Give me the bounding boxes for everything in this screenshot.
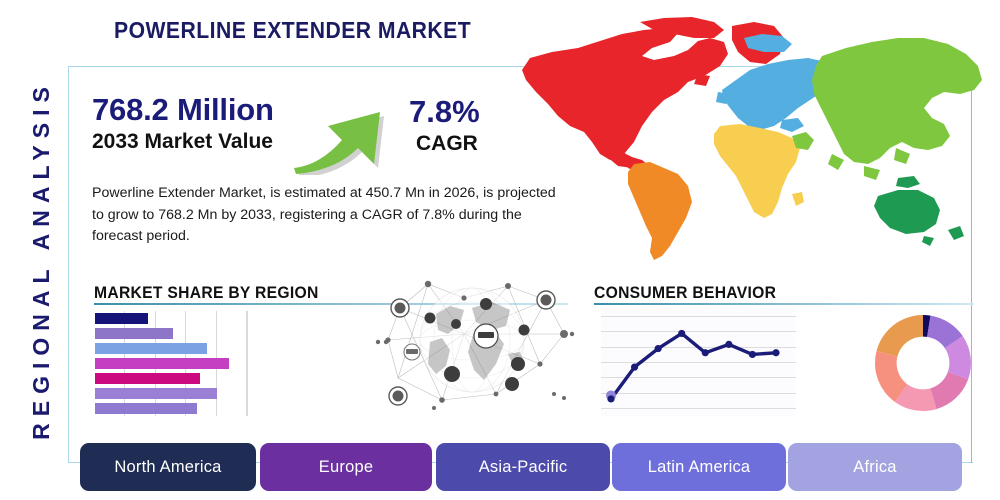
consumer-behavior-heading: CONSUMER BEHAVIOR bbox=[594, 284, 776, 303]
region-pill-europe[interactable]: Europe bbox=[260, 443, 432, 491]
market-share-heading: MARKET SHARE BY REGION bbox=[94, 284, 319, 303]
growth-arrow-svg bbox=[288, 90, 408, 175]
donut-segment bbox=[877, 315, 923, 356]
line-marker bbox=[655, 345, 662, 352]
cagr-caption: CAGR bbox=[416, 132, 478, 156]
line-marker bbox=[702, 349, 709, 356]
donut-segment bbox=[930, 372, 968, 409]
cagr-number: 7.8% bbox=[409, 94, 480, 130]
global-network-graphic bbox=[368, 268, 578, 420]
bar-item bbox=[95, 358, 229, 369]
region-pill-asia-pacific[interactable]: Asia-Pacific bbox=[436, 443, 610, 491]
map-region-oceania bbox=[874, 176, 964, 246]
hero-metrics: 768.2 Million 2033 Market Value 7.8% CAG… bbox=[92, 92, 572, 172]
bar-item bbox=[95, 313, 148, 324]
bar-item bbox=[95, 403, 197, 414]
bar-item bbox=[95, 343, 207, 354]
map-region-africa bbox=[714, 124, 804, 218]
page-title: POWERLINE EXTENDER MARKET bbox=[114, 17, 471, 44]
consumer-behavior-line-chart bbox=[601, 308, 796, 416]
region-pill-africa[interactable]: Africa bbox=[788, 443, 962, 491]
map-region-south-america bbox=[628, 162, 692, 260]
region-pill-row: North AmericaEuropeAsia-PacificLatin Ame… bbox=[80, 443, 980, 491]
region-pill-north-america[interactable]: North America bbox=[80, 443, 256, 491]
line-marker bbox=[749, 351, 756, 358]
map-region-asia bbox=[792, 38, 982, 180]
infographic-root: REGIONAL ANALYSIS POWERLINE EXTENDER MAR… bbox=[0, 0, 1000, 500]
bar-gridline bbox=[246, 311, 247, 416]
line-marker bbox=[678, 330, 685, 337]
side-label: REGIONAL ANALYSIS bbox=[21, 80, 61, 440]
bar-item bbox=[95, 373, 200, 384]
globe-network-svg bbox=[368, 268, 578, 420]
line-marker bbox=[772, 349, 779, 356]
market-description: Powerline Extender Market, is estimated … bbox=[92, 183, 570, 248]
globe-landmass bbox=[420, 288, 524, 392]
donut-chart-svg bbox=[869, 309, 977, 417]
bar-item bbox=[95, 388, 217, 399]
bar-item bbox=[95, 328, 173, 339]
market-value-number: 768.2 Million bbox=[92, 92, 274, 128]
consumer-behavior-heading-rule bbox=[594, 303, 974, 305]
market-share-bar-chart bbox=[95, 311, 265, 416]
line-chart-svg bbox=[601, 308, 796, 416]
line-marker bbox=[725, 341, 732, 348]
behavior-donut-chart bbox=[869, 309, 977, 417]
region-pill-latin-america[interactable]: Latin America bbox=[612, 443, 786, 491]
line-marker bbox=[631, 363, 638, 370]
market-value-caption: 2033 Market Value bbox=[92, 130, 273, 154]
growth-arrow-icon bbox=[288, 90, 408, 175]
line-marker bbox=[607, 395, 614, 402]
